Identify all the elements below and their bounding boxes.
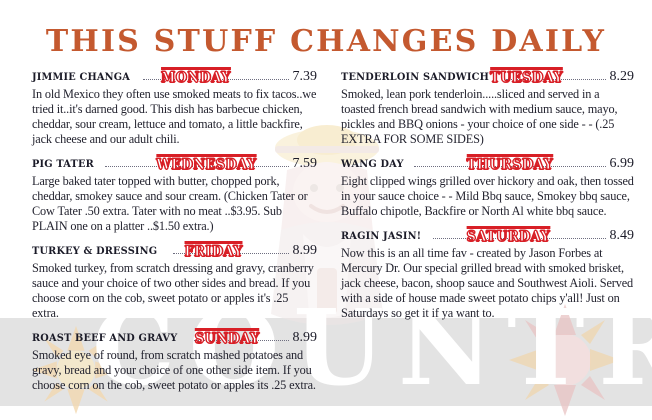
dish-name: JIMMIE CHANGA (32, 71, 130, 83)
page-title: THIS STUFF CHANGES DAILY (0, 0, 652, 57)
dish-description: In old Mexico they often use smoked meat… (32, 87, 317, 147)
menu-entry-header: TENDERLOIN SANDWICH8.29TUESDAY (341, 69, 634, 86)
day-badge-saturday: SATURDAY (467, 226, 551, 244)
menu-entry-jimmie-changa: JIMMIE CHANGA7.39MONDAYIn old Mexico the… (32, 69, 317, 147)
dish-price: 7.39 (293, 69, 318, 85)
dish-price: 8.99 (293, 330, 318, 346)
dish-name: ROAST BEEF AND GRAVY (32, 332, 177, 344)
menu-entry-header: RAGIN JASIN!8.49SATURDAY (341, 228, 634, 245)
menu-entry-header: PIG TATER7.59WEDNESDAY (32, 156, 317, 173)
dish-price: 6.99 (610, 156, 635, 172)
dish-description: Now this is an all time fav - created by… (341, 246, 634, 321)
dish-description: Smoked eye of round, from scratch mashed… (32, 348, 317, 393)
menu-entry-header: WANG DAY6.99THURSDAY (341, 156, 634, 173)
menu-entry-tenderloin-sandwich: TENDERLOIN SANDWICH8.29TUESDAYSmoked, le… (341, 69, 634, 147)
day-badge-wednesday: WEDNESDAY (156, 154, 256, 172)
dish-price: 8.29 (610, 69, 635, 85)
menu-entry-header: ROAST BEEF AND GRAVY8.99SUNDAY (32, 330, 317, 347)
day-badge-tuesday: TUESDAY (490, 67, 563, 85)
dish-price: 8.49 (610, 228, 635, 244)
dish-price: 7.59 (293, 156, 318, 172)
day-badge-thursday: THURSDAY (467, 154, 553, 172)
day-badge-friday: FRIDAY (185, 241, 243, 259)
dish-description: Eight clipped wings grilled over hickory… (341, 174, 634, 219)
dish-description: Smoked, lean pork tenderloin.....sliced … (341, 87, 634, 147)
dish-name: WANG DAY (341, 158, 404, 170)
menu-entry-turkey-dressing: TURKEY & DRESSING8.99FRIDAYSmoked turkey… (32, 243, 317, 321)
dish-name: TURKEY & DRESSING (32, 245, 157, 257)
dish-name: TENDERLOIN SANDWICH (341, 71, 489, 83)
menu-entry-wang-day: WANG DAY6.99THURSDAYEight clipped wings … (341, 156, 634, 219)
dish-name: PIG TATER (32, 158, 94, 170)
dish-name: RAGIN JASIN! (341, 230, 421, 242)
menu-entry-header: JIMMIE CHANGA7.39MONDAY (32, 69, 317, 86)
dish-description: Large baked tater topped with butter, ch… (32, 174, 317, 234)
day-badge-monday: MONDAY (161, 67, 231, 85)
menu-page: THIS STUFF CHANGES DAILY JIMMIE CHANGA7.… (0, 0, 652, 420)
menu-columns: JIMMIE CHANGA7.39MONDAYIn old Mexico the… (0, 57, 652, 402)
menu-column-left: JIMMIE CHANGA7.39MONDAYIn old Mexico the… (32, 69, 317, 402)
menu-entry-header: TURKEY & DRESSING8.99FRIDAY (32, 243, 317, 260)
menu-column-right: TENDERLOIN SANDWICH8.29TUESDAYSmoked, le… (341, 69, 634, 402)
menu-entry-roast-beef-and-gravy: ROAST BEEF AND GRAVY8.99SUNDAYSmoked eye… (32, 330, 317, 393)
dish-description: Smoked turkey, from scratch dressing and… (32, 261, 317, 321)
menu-entry-ragin-jasin: RAGIN JASIN!8.49SATURDAYNow this is an a… (341, 228, 634, 321)
menu-entry-pig-tater: PIG TATER7.59WEDNESDAYLarge baked tater … (32, 156, 317, 234)
dish-price: 8.99 (293, 243, 318, 259)
day-badge-sunday: SUNDAY (195, 328, 260, 346)
